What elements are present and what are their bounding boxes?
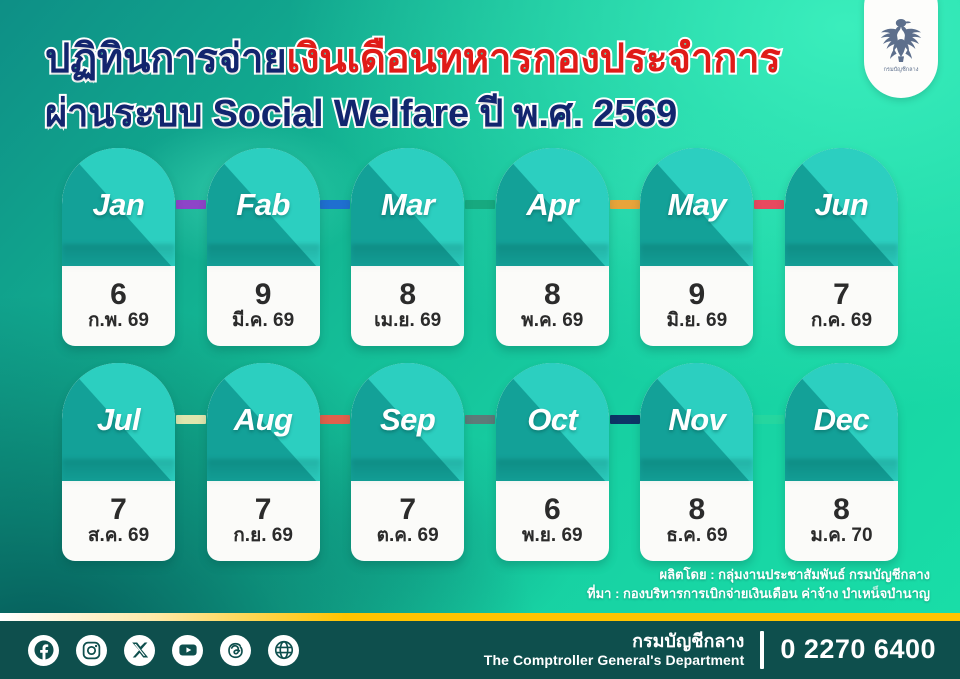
connector-slot [609,148,641,209]
month-card-jun[interactable]: Jun7ก.ค. 69 [785,148,898,346]
month-label: Jul [62,363,175,481]
connector-slot [464,363,496,424]
month-card-dec[interactable]: Dec8ม.ค. 70 [785,363,898,561]
footer-contact: กรมบัญชีกลาง The Comptroller General's D… [484,631,936,669]
website-globe-icon[interactable] [268,635,299,666]
facebook-icon[interactable] [28,635,59,666]
month-card-oct[interactable]: Oct6พ.ย. 69 [496,363,609,561]
credits-block: ผลิตโดย : กลุ่มงานประชาสัมพันธ์ กรมบัญชี… [587,566,930,604]
footer-bar: กรมบัญชีกลาง The Comptroller General's D… [0,621,960,679]
pay-day-number: 7 [833,280,850,310]
pay-day-number: 8 [544,280,561,310]
month-label: Fab [207,148,320,266]
page-title-line-1: ปฏิทินการจ่ายเงินเดือนทหารกองประจำการ [45,26,781,90]
garuda-icon: กรมบัญชีกลาง [872,9,930,81]
pay-month-year: ก.ค. 69 [811,311,872,332]
connector-slot [753,148,785,209]
pay-month-year: ธ.ค. 69 [666,526,727,547]
garuda-emblem-tab: กรมบัญชีกลาง [864,0,938,98]
month-card-body: 9มี.ค. 69 [207,266,320,346]
month-card-nov[interactable]: Nov8ธ.ค. 69 [640,363,753,561]
pay-month-year: พ.ย. 69 [522,526,583,547]
month-card-body: 7ก.ย. 69 [207,481,320,561]
connector-slot [753,363,785,424]
month-connector [610,200,640,209]
pay-day-number: 7 [255,495,272,525]
youtube-icon[interactable] [172,635,203,666]
month-label: Mar [351,148,464,266]
month-card-jan[interactable]: Jan6ก.พ. 69 [62,148,175,346]
month-card-fab[interactable]: Fab9มี.ค. 69 [207,148,320,346]
connector-slot [609,363,641,424]
garuda-caption: กรมบัญชีกลาง [884,66,919,73]
month-connector [320,200,350,209]
month-connector [754,415,784,424]
connector-slot [464,148,496,209]
pay-month-year: มี.ค. 69 [232,311,294,332]
pay-month-year: ก.พ. 69 [88,311,149,332]
pay-month-year: เม.ย. 69 [374,311,441,332]
month-card-may[interactable]: May9มิ.ย. 69 [640,148,753,346]
month-card-body: 6ก.พ. 69 [62,266,175,346]
month-connector [754,200,784,209]
pay-month-year: ก.ย. 69 [233,526,293,547]
pay-month-year: ม.ค. 70 [810,526,872,547]
instagram-icon[interactable] [76,635,107,666]
department-name: กรมบัญชีกลาง The Comptroller General's D… [484,631,745,669]
social-links [28,635,299,666]
pay-month-year: มิ.ย. 69 [667,311,728,332]
month-connector [176,200,206,209]
pay-day-number: 9 [255,280,272,310]
month-card-body: 8เม.ย. 69 [351,266,464,346]
phone-number[interactable]: 0 2270 6400 [780,634,936,665]
pay-day-number: 9 [689,280,706,310]
credits-line-source: ที่มา : กองบริหารการเบิกจ่ายเงินเดือน ค่… [587,585,930,604]
month-connector [176,415,206,424]
month-card-body: 7ก.ค. 69 [785,266,898,346]
pay-month-year: พ.ค. 69 [521,311,583,332]
gold-divider [0,613,960,621]
month-card-jul[interactable]: Jul7ส.ค. 69 [62,363,175,561]
month-label: Oct [496,363,609,481]
pay-month-year: ต.ค. 69 [377,526,439,547]
calendar-row: Jul7ส.ค. 69Aug7ก.ย. 69Sep7ต.ค. 69Oct6พ.ย… [62,363,898,569]
poster-header: ปฏิทินการจ่ายเงินเดือนทหารกองประจำการ ผ่… [0,0,960,140]
connector-slot [320,148,352,209]
poster-canvas: ปฏิทินการจ่ายเงินเดือนทหารกองประจำการ ผ่… [0,0,960,679]
month-card-body: 7ต.ค. 69 [351,481,464,561]
pay-day-number: 8 [689,495,706,525]
month-card-body: 6พ.ย. 69 [496,481,609,561]
page-title-part-highlight: เงินเดือนทหารกองประจำการ [286,37,780,81]
month-label: Aug [207,363,320,481]
month-card-sep[interactable]: Sep7ต.ค. 69 [351,363,464,561]
credits-line-produced-by: ผลิตโดย : กลุ่มงานประชาสัมพันธ์ กรมบัญชี… [587,566,930,585]
month-connector [320,415,350,424]
pay-day-number: 7 [110,495,127,525]
month-label: May [640,148,753,266]
month-card-body: 9มิ.ย. 69 [640,266,753,346]
month-connector [465,200,495,209]
pay-day-number: 8 [399,280,416,310]
pay-day-number: 6 [544,495,561,525]
month-card-body: 8พ.ค. 69 [496,266,609,346]
month-card-body: 8ม.ค. 70 [785,481,898,561]
month-label: Dec [785,363,898,481]
department-name-thai: กรมบัญชีกลาง [484,631,745,653]
month-label: Jun [785,148,898,266]
month-card-body: 8ธ.ค. 69 [640,481,753,561]
month-card-aug[interactable]: Aug7ก.ย. 69 [207,363,320,561]
footer-divider [760,631,764,669]
month-label: Nov [640,363,753,481]
threads-icon[interactable] [220,635,251,666]
calendar-row: Jan6ก.พ. 69Fab9มี.ค. 69Mar8เม.ย. 69Apr8พ… [62,148,898,354]
pay-day-number: 8 [833,495,850,525]
connector-slot [320,363,352,424]
month-label: Jan [62,148,175,266]
payment-calendar-grid: Jan6ก.พ. 69Fab9มี.ค. 69Mar8เม.ย. 69Apr8พ… [62,148,898,569]
x-twitter-icon[interactable] [124,635,155,666]
connector-slot [175,148,207,209]
page-title-part-thai: ปฏิทินการจ่าย [45,37,286,81]
pay-day-number: 6 [110,280,127,310]
month-card-apr[interactable]: Apr8พ.ค. 69 [496,148,609,346]
pay-day-number: 7 [399,495,416,525]
month-connector [465,415,495,424]
month-label: Apr [496,148,609,266]
month-connector [610,415,640,424]
connector-slot [175,363,207,424]
department-name-english: The Comptroller General's Department [484,652,745,669]
month-card-body: 7ส.ค. 69 [62,481,175,561]
pay-month-year: ส.ค. 69 [88,526,149,547]
month-label: Sep [351,363,464,481]
month-card-mar[interactable]: Mar8เม.ย. 69 [351,148,464,346]
page-subtitle: ผ่านระบบ Social Welfare ปี พ.ศ. 2569 [45,82,677,143]
